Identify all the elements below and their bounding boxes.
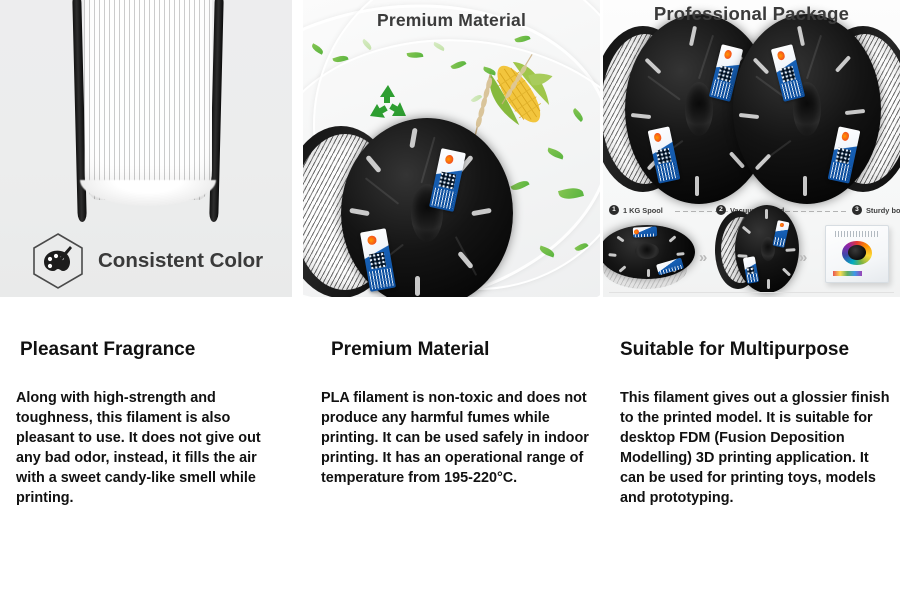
package-step-spool-1 (603, 225, 695, 291)
step-label: Sturdy box (866, 206, 900, 215)
filament-spool (323, 118, 513, 297)
label-barcode (774, 237, 785, 247)
brand-logo-dot (777, 51, 786, 61)
feature-image-row: Consistent Color Premium Material (0, 0, 900, 297)
image-title-professional-package: Professional Package (603, 3, 900, 25)
spool-slot (647, 269, 650, 277)
label-qr-code (369, 252, 387, 270)
box-color-swatches (833, 271, 862, 276)
filament-strand-illustration (78, 0, 218, 222)
palette-hexagon-icon (30, 232, 86, 290)
packaging-step-1: 1 1 KG Spool (609, 205, 663, 215)
step-number: 3 (852, 205, 862, 215)
step-label: 1 KG Spool (623, 206, 663, 215)
brand-logo-dot (444, 154, 454, 165)
color-wheel-icon (842, 241, 872, 266)
label-barcode (635, 233, 655, 237)
label-barcode (369, 268, 394, 290)
spool-slot (608, 253, 616, 257)
product-feature-page: Consistent Color Premium Material (0, 0, 900, 600)
label-barcode (711, 79, 733, 99)
feature-body: Along with high-strength and toughness, … (16, 388, 288, 508)
feature-body: PLA filament is non-toxic and does not p… (321, 388, 603, 488)
filament-base-glow (80, 180, 216, 206)
image-title-premium-material: Premium Material (303, 10, 600, 31)
packaging-steps: 1 1 KG Spool 2 Vacuum Sealed 3 Sturdy bo… (603, 203, 900, 297)
packaging-step-3: 3 Sturdy box (852, 205, 900, 215)
label-barcode (431, 187, 455, 209)
brand-logo-dot (653, 133, 662, 143)
brand-logo-dot (366, 235, 376, 246)
package-spool-right (739, 20, 900, 198)
feature-heading: Premium Material (331, 339, 603, 362)
feature-heading: Pleasant Fragrance (20, 339, 303, 362)
brand-logo-dot (841, 132, 850, 142)
feature-heading: Suitable for Multipurpose (620, 339, 900, 362)
package-step-spool-2 (721, 205, 799, 293)
brand-logo-dot (779, 223, 784, 228)
spool-slot (803, 176, 807, 196)
label-barcode (657, 162, 678, 182)
feature-text-row: Pleasant Fragrance Along with high-stren… (0, 297, 900, 600)
shelf-divider (609, 292, 894, 293)
label-qr-code (656, 147, 672, 163)
feature-column-multipurpose: Suitable for Multipurpose This filament … (603, 297, 900, 508)
label-qr-code (836, 147, 852, 163)
feature-image-consistent-color: Consistent Color (0, 0, 292, 297)
feature-image-professional-package: Professional Package (603, 0, 900, 297)
label-barcode (830, 162, 851, 182)
spool-slot (765, 209, 768, 219)
label-barcode (747, 273, 758, 282)
filament-strands (84, 0, 212, 200)
retail-box (825, 225, 889, 283)
consistent-color-badge: Consistent Color (30, 232, 263, 290)
chevron-right-icon: » (799, 249, 804, 266)
spool-hub (685, 82, 713, 136)
feature-column-pleasant-fragrance: Pleasant Fragrance Along with high-stren… (0, 297, 303, 508)
chevron-right-icon: » (699, 249, 704, 266)
badge-label: Consistent Color (98, 249, 263, 273)
label-barcode (781, 79, 803, 99)
box-title-text (835, 231, 880, 237)
feature-column-premium-material: Premium Material PLA filament is non-tox… (303, 297, 603, 488)
spool-slot (695, 176, 699, 196)
spool-label-top (633, 226, 657, 237)
spool-slot (767, 279, 770, 289)
label-qr-code (438, 171, 456, 189)
label-qr-code (717, 65, 733, 82)
feature-image-premium-material: Premium Material (303, 0, 600, 297)
feature-body: This filament gives out a glossier finis… (620, 388, 896, 508)
brand-logo-dot (723, 49, 732, 59)
step-number: 1 (609, 205, 619, 215)
spool-hub (635, 243, 659, 259)
spool-slot (415, 276, 420, 296)
